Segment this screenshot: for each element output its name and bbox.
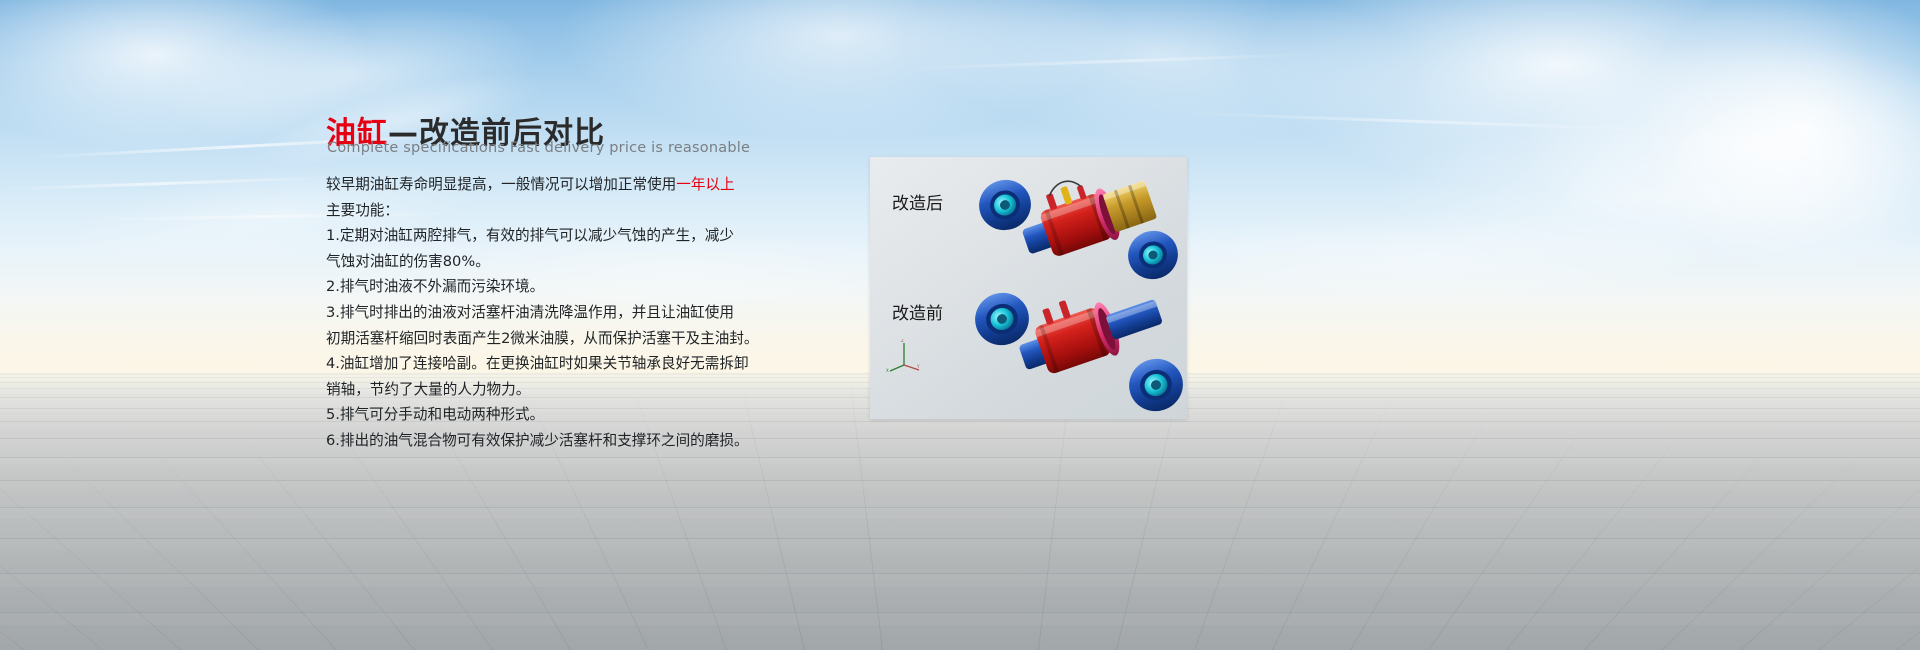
feature-line-text: 主要功能： <box>326 202 399 219</box>
page-subtitle: Complete specifications Fast delivery pr… <box>327 140 750 156</box>
feature-line-text: 2.排气时油液不外漏而污染环境。 <box>326 278 544 295</box>
svg-text:Z: Z <box>901 339 904 343</box>
hero-banner: 油缸—改造前后对比 Complete specifications Fast d… <box>0 0 1920 650</box>
label-after-modification: 改造后 <box>892 189 943 214</box>
hydraulic-cylinder-after-illustration <box>965 165 1187 285</box>
feature-line-text: 4.油缸增加了连接哈副。在更换油缸时如果关节轴承良好无需拆卸 <box>326 355 749 372</box>
feature-line-text: 初期活塞杆缩回时表面产生2微米油膜，从而保护活塞干及主油封。 <box>326 330 759 347</box>
feature-line-text: 1.定期对油缸两腔排气，有效的排气可以减少气蚀的产生，减少 <box>326 227 734 244</box>
feature-line-text: 气蚀对油缸的伤害80%。 <box>326 253 490 270</box>
hydraulic-cylinder-before-illustration <box>962 277 1187 419</box>
svg-text:Y: Y <box>916 364 920 369</box>
banner-content: 油缸—改造前后对比 Complete specifications Fast d… <box>0 0 1920 650</box>
feature-line-highlight: 一年以上 <box>676 176 734 193</box>
product-comparison-image: 改造后 改造前 <box>870 157 1187 419</box>
feature-line-text: 3.排气时排出的油液对活塞杆油清洗降温作用，并且让油缸使用 <box>326 304 734 321</box>
axis-gizmo-icon: Z X Y <box>886 339 922 373</box>
label-before-modification: 改造前 <box>892 299 943 324</box>
feature-line-text: 销轴，节约了大量的人力物力。 <box>326 381 530 398</box>
svg-text:X: X <box>886 368 889 373</box>
feature-line: 6.排出的油气混合物可有效保护减少活塞杆和支撑环之间的磨损。 <box>326 428 1046 454</box>
feature-line-text: 6.排出的油气混合物可有效保护减少活塞杆和支撑环之间的磨损。 <box>326 432 749 449</box>
feature-line-text: 5.排气可分手动和电动两种形式。 <box>326 406 544 423</box>
feature-line-text: 较早期油缸寿命明显提高，一般情况可以增加正常使用 <box>326 176 676 193</box>
